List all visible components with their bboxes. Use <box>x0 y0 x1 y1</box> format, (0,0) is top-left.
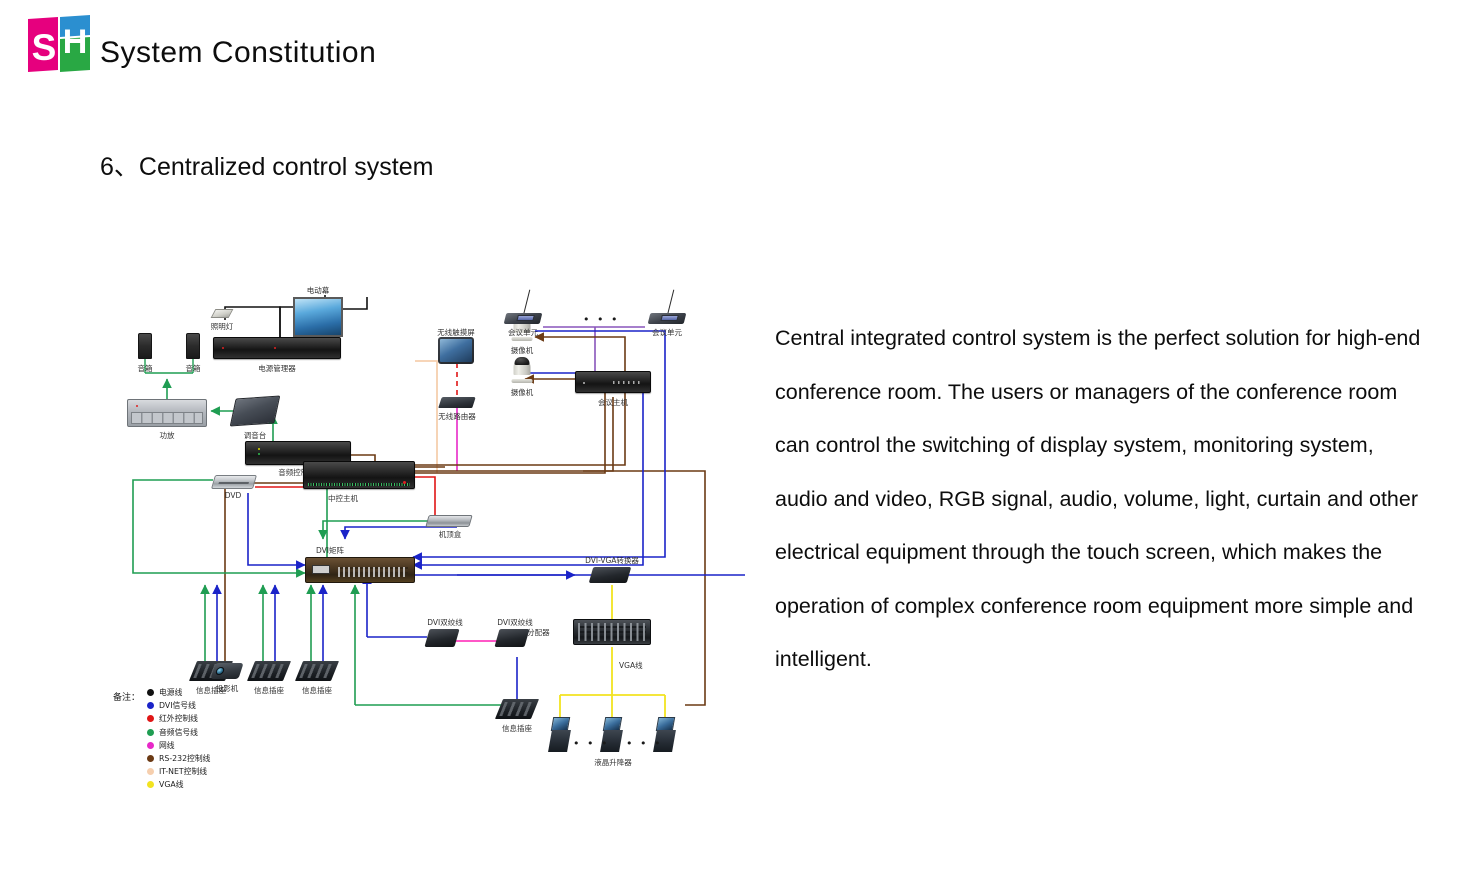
legend-color-dot <box>147 742 154 749</box>
conference-unit-right-icon <box>648 313 687 324</box>
wireless-touch-screen-icon <box>438 337 474 364</box>
set-top-box-icon <box>425 515 472 527</box>
legend-item: RS-232控制线 <box>147 752 210 765</box>
label-dvi-vga-converter: DVI-VGA转换器 <box>585 555 639 566</box>
legend-item: 音频信号线 <box>147 726 210 739</box>
power-amplifier-icon <box>127 399 207 427</box>
label-conference-unit-left: 会议单元 <box>508 327 538 338</box>
legend-color-dot <box>147 781 154 788</box>
legend-item-label: 电源线 <box>159 687 182 698</box>
dvi-extender-2-icon <box>494 629 529 647</box>
label-speaker-left: 音箱 <box>138 363 153 374</box>
lcd-lift-1-screen-icon <box>551 717 570 731</box>
legend-color-dot <box>147 702 154 709</box>
label-mixer: 调音台 <box>244 430 267 441</box>
logo-letter-h: H <box>61 22 89 62</box>
description-paragraph: Central integrated control system is the… <box>775 312 1425 687</box>
legend-item: IT-NET控制线 <box>147 765 210 778</box>
legend-color-dot <box>147 768 154 775</box>
projector-icon <box>210 663 243 679</box>
slide-page: S H System Constitution 6、Centralized co… <box>0 0 1475 872</box>
legend-item: 网线 <box>147 739 210 752</box>
lcd-lift-1-base-icon <box>548 730 571 752</box>
legend-item-label: IT-NET控制线 <box>159 766 207 777</box>
label-central-control-host: 中控主机 <box>328 493 358 504</box>
label-vga-cable: VGA线 <box>619 660 643 671</box>
legend-color-dot <box>147 755 154 762</box>
label-info-socket-2: 信息插座 <box>254 685 284 696</box>
mixer-icon <box>230 395 281 426</box>
label-projector: 投影机 <box>216 683 239 694</box>
legend-color-dot <box>147 715 154 722</box>
label-power-manager: 电源管理器 <box>258 363 296 374</box>
label-dvd: DVD <box>225 491 242 500</box>
logo-letter-s: S <box>30 28 58 68</box>
label-info-socket-3: 信息插座 <box>302 685 332 696</box>
legend-title: 备注： <box>113 690 140 703</box>
label-conference-unit-right: 会议单元 <box>652 327 682 338</box>
legend-item-label: 音频信号线 <box>159 727 198 738</box>
conference-host-icon <box>575 371 651 393</box>
dvi-matrix-icon <box>305 557 415 583</box>
dvi-extender-1-icon <box>424 629 459 647</box>
dvd-icon <box>211 475 257 489</box>
speaker-right-icon <box>186 333 200 359</box>
central-control-host-icon <box>303 461 415 489</box>
label-electric-screen: 电动幕 <box>307 285 330 296</box>
label-lighting-lamp: 照明灯 <box>211 321 234 332</box>
legend-item: VGA线 <box>147 778 210 791</box>
label-wireless-touch-screen: 无线触摸屏 <box>437 327 475 338</box>
wireless-router-icon <box>438 397 476 408</box>
label-dvi-matrix: DVI矩阵 <box>316 545 344 556</box>
legend-items: 电源线 DVI信号线 红外控制线 音频信号线 网线 RS-232控制线 <box>147 686 210 792</box>
electric-screen-icon <box>293 297 343 337</box>
lcd-lift-ellipsis-2: • • • <box>626 737 662 750</box>
label-power-amplifier: 功放 <box>160 430 175 441</box>
page-title: System Constitution <box>100 36 376 70</box>
camera-2-icon <box>509 357 535 383</box>
conference-units-ellipsis: • • • <box>583 313 619 326</box>
legend-color-dot <box>147 689 154 696</box>
legend-item-label: VGA线 <box>159 779 184 790</box>
legend-item-label: 网线 <box>159 740 175 751</box>
label-dvi-twisted-pair-1: DVI双绞线 <box>427 617 463 628</box>
label-conference-host: 会议主机 <box>598 397 628 408</box>
section-heading: 6、Centralized control system <box>100 147 433 183</box>
speaker-left-icon <box>138 333 152 359</box>
lcd-lift-2-screen-icon <box>603 717 622 731</box>
conference-unit-left-icon <box>504 313 543 324</box>
legend-item: DVI信号线 <box>147 699 210 712</box>
lcd-lift-ellipsis-1: • • • <box>573 737 609 750</box>
label-lcd-lift: 液晶升降器 <box>594 757 632 768</box>
label-set-top-box: 机顶盒 <box>439 529 462 540</box>
label-camera-1: 摄像机 <box>511 345 534 356</box>
label-speaker-right: 音箱 <box>186 363 201 374</box>
slide-header: S H System Constitution <box>0 0 1475 100</box>
legend-item: 电源线 <box>147 686 210 699</box>
label-dvi-twisted-pair-2: DVI双绞线 <box>497 617 533 628</box>
legend-item: 红外控制线 <box>147 712 210 725</box>
lcd-lift-3-screen-icon <box>656 717 675 731</box>
dvi-vga-converter-icon <box>589 567 632 583</box>
legend-item-label: RS-232控制线 <box>159 753 210 764</box>
company-logo-icon: S H <box>28 12 90 74</box>
label-camera-2: 摄像机 <box>511 387 534 398</box>
legend-item-label: 红外控制线 <box>159 713 198 724</box>
legend-item-label: DVI信号线 <box>159 700 196 711</box>
power-manager-icon <box>213 337 341 359</box>
legend-color-dot <box>147 729 154 736</box>
label-info-socket-4: 信息插座 <box>502 723 532 734</box>
label-wireless-router: 无线路由器 <box>438 411 476 422</box>
vga-distributor-icon <box>573 619 651 645</box>
